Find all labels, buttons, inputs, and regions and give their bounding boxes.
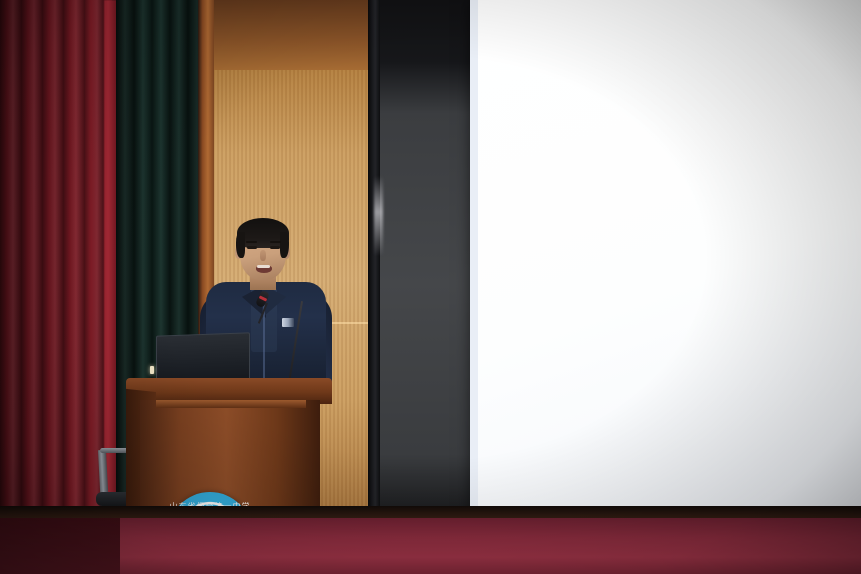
presenter-chest-badge	[282, 318, 294, 327]
stage-floor	[0, 518, 861, 574]
presenter-eyebrow-right	[270, 241, 281, 243]
dark-column-edge	[368, 0, 380, 516]
lecture-hall-scene: 货币的本质 ➢以物易物：交换在 搜索	[0, 0, 861, 574]
presenter-eye-left	[247, 246, 257, 249]
laptop-indicator-led	[150, 366, 154, 374]
presenter-eyebrow-left	[246, 241, 257, 243]
stage-floor-shadowed	[0, 518, 120, 574]
presenter-nose	[260, 250, 266, 261]
presenter-teeth	[257, 265, 270, 268]
projection-screen-surface[interactable]: 货币的本质 ➢以物易物：交换在 搜索	[478, 0, 861, 510]
red-stage-curtain	[0, 0, 112, 520]
podium-front-bevel	[156, 400, 306, 408]
presenter-hair-right	[280, 232, 289, 258]
presenter-eye-right	[270, 246, 280, 249]
wood-wall-upper-band	[214, 0, 370, 70]
dark-wall-column	[368, 0, 472, 516]
column-light-glint	[374, 176, 383, 256]
presenter-hair-left	[236, 232, 245, 258]
